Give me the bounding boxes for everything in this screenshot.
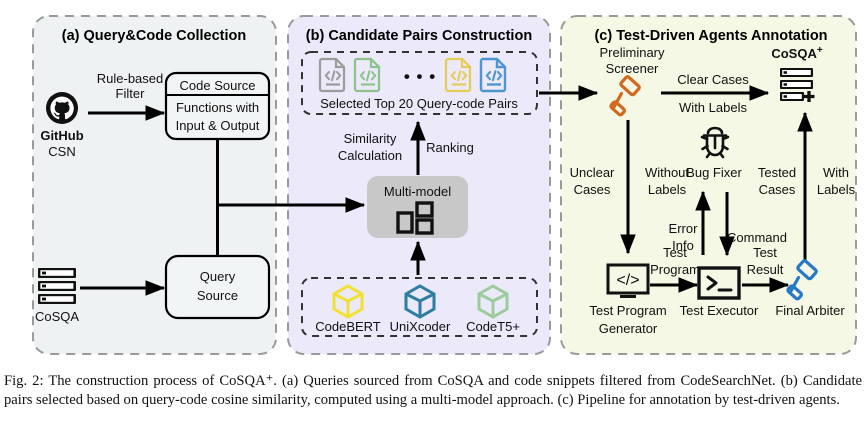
tested-cases-label-1: Tested <box>758 165 796 180</box>
query-source-line-2: Source <box>197 288 238 303</box>
clear-cases-label-1: Clear Cases <box>677 72 749 87</box>
pairs-ellipsis: • • • <box>404 67 436 86</box>
test-program-label-1: Test <box>663 245 687 260</box>
multi-model-label: Multi-model <box>384 184 451 199</box>
clear-cases-label-2: With Labels <box>679 100 747 115</box>
panel-c-title: (c) Test-Driven Agents Annotation <box>594 28 827 44</box>
test-executor-label: Test Executor <box>680 303 759 318</box>
without-labels-label-1: Without <box>645 165 689 180</box>
with-labels-label-2: Labels <box>817 182 856 197</box>
cosqa-label: CoSQA <box>35 309 79 324</box>
preliminary-screener-label-1: Preliminary <box>599 45 665 60</box>
test-result-label-2: Result <box>747 262 784 277</box>
with-labels-label-1: With <box>823 165 849 180</box>
bug-fixer-label: Bug Fixer <box>686 165 742 180</box>
test-program-label-2: Program <box>650 262 700 277</box>
similarity-label-1: Similarity <box>344 131 397 146</box>
github-icon <box>46 92 78 124</box>
figure-caption: Fig. 2: The construction process of CoSQ… <box>4 372 862 410</box>
diagram-svg: (a) Query&Code Collection (b) Candidate … <box>0 0 865 366</box>
preliminary-screener-label-2: Screener <box>606 61 659 76</box>
panel-a-title: (a) Query&Code Collection <box>62 28 247 44</box>
rule-based-filter-label-1: Rule-based <box>97 71 164 86</box>
github-sublabel: CSN <box>48 144 75 159</box>
without-labels-label-2: Labels <box>648 182 687 197</box>
generator-label-2: Generator <box>599 321 658 336</box>
panel-b-title: (b) Candidate Pairs Construction <box>306 28 532 44</box>
svg-text:</>: </> <box>616 272 639 289</box>
code-source-body-line-2: Input & Output <box>176 118 260 133</box>
top-pairs-caption: Selected Top 20 Query-code Pairs <box>320 96 518 111</box>
cosqa-plus-title: CoSQA+ <box>771 45 823 61</box>
unclear-cases-label-2: Cases <box>574 182 611 197</box>
code-source-header: Code Source <box>180 78 256 93</box>
query-source-box <box>166 256 269 318</box>
ranking-label: Ranking <box>426 140 474 155</box>
test-result-label-1: Test <box>753 245 777 260</box>
model-label-codet5: CodeT5+ <box>466 319 520 334</box>
generator-label-1: Test Program <box>589 303 666 318</box>
final-arbiter-label: Final Arbiter <box>775 303 845 318</box>
unclear-cases-label-1: Unclear <box>570 165 615 180</box>
github-label: GitHub <box>40 128 83 143</box>
tested-cases-label-2: Cases <box>759 182 796 197</box>
code-source-body-line-1: Functions with <box>176 100 259 115</box>
model-label-codebert: CodeBERT <box>315 319 381 334</box>
error-info-label-1: Error <box>669 221 699 236</box>
command-label: Command <box>727 230 787 245</box>
rule-based-filter-label-2: Filter <box>116 86 146 101</box>
similarity-label-2: Calculation <box>338 148 402 163</box>
model-label-unixcoder: UniXcoder <box>390 319 451 334</box>
cosqa-database-icon <box>38 268 76 304</box>
figure-container: (a) Query&Code Collection (b) Candidate … <box>0 0 865 366</box>
cosqa-plus-database-icon <box>780 68 815 102</box>
query-source-line-1: Query <box>200 269 236 284</box>
